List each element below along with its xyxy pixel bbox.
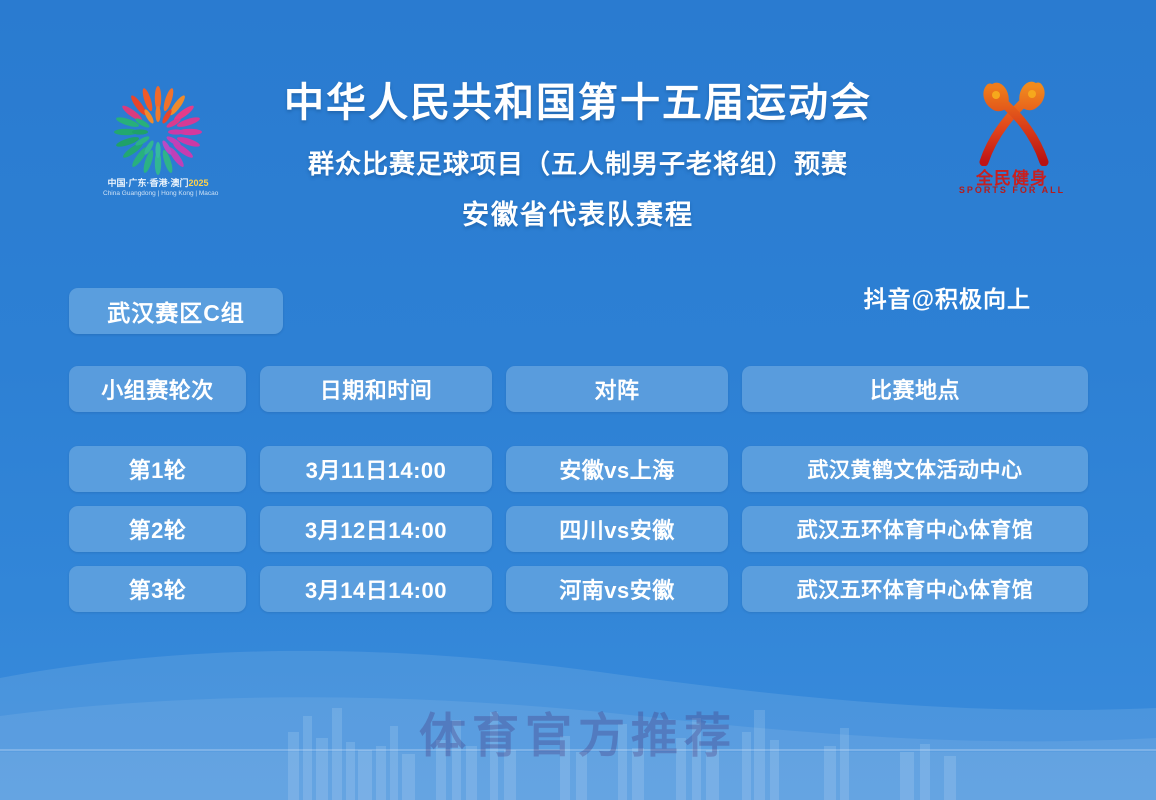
cell-round-label: 第2轮 [129,513,187,545]
games-emblem-logo: 中国·广东·香港·澳门2025 China Guangdong | Hong K… [103,86,213,204]
cell-datetime-label: 3月11日14:00 [306,453,447,485]
cell-round: 第3轮 [69,566,246,612]
cell-venue: 武汉黄鹤文体活动中心 [742,446,1088,492]
emblem-caption-year: 2025 [188,178,208,188]
cell-datetime-label: 3月14日14:00 [305,573,447,605]
page-subtitle: 群众比赛足球项目（五人制男子老将组）预赛 [222,142,934,186]
sports-for-all-en: SPORTS FOR ALL [956,185,1068,195]
cell-matchup-label: 河南vs安徽 [559,573,674,605]
schedule-table: 小组赛轮次 日期和时间 对阵 比赛地点 第1轮 3月11日14:00 安徽vs上… [69,366,1088,612]
table-header-row: 小组赛轮次 日期和时间 对阵 比赛地点 [69,366,1088,412]
cell-matchup-label: 安徽vs上海 [559,453,674,485]
running-figures-icon [962,80,1062,166]
cell-venue-label: 武汉黄鹤文体活动中心 [808,454,1023,484]
watermark-text: 体育官方推荐 [0,697,1156,766]
column-header-matchup: 对阵 [506,366,728,412]
group-badge: 武汉赛区C组 [69,288,283,334]
column-header-datetime-label: 日期和时间 [320,373,433,405]
douyin-credit: 抖音@积极向上 [864,280,1031,314]
column-header-venue-label: 比赛地点 [870,373,960,405]
title-block: 中华人民共和国第十五届运动会 群众比赛足球项目（五人制男子老将组）预赛 安徽省代… [222,78,934,236]
wave-decoration [0,620,1156,800]
cell-round: 第2轮 [69,506,246,552]
table-row: 第3轮 3月14日14:00 河南vs安徽 武汉五环体育中心体育馆 [69,566,1088,612]
cell-round-label: 第3轮 [129,573,187,605]
cell-datetime: 3月12日14:00 [260,506,492,552]
city-skyline-decoration [0,680,1156,800]
group-badge-label: 武汉赛区C组 [107,294,245,328]
cell-matchup: 安徽vs上海 [506,446,728,492]
cell-round-label: 第1轮 [129,453,187,485]
cell-venue-label: 武汉五环体育中心体育馆 [797,514,1034,544]
column-header-round: 小组赛轮次 [69,366,246,412]
column-header-venue: 比赛地点 [742,366,1088,412]
team-schedule-title: 安徽省代表队赛程 [222,194,934,236]
table-row: 第2轮 3月12日14:00 四川vs安徽 武汉五环体育中心体育馆 [69,506,1088,552]
cell-datetime: 3月11日14:00 [260,446,492,492]
cell-round: 第1轮 [69,446,246,492]
poster-header: 中国·广东·香港·澳门2025 China Guangdong | Hong K… [0,78,1156,228]
cell-venue: 武汉五环体育中心体育馆 [742,566,1088,612]
cell-datetime-label: 3月12日14:00 [305,513,447,545]
cell-matchup-label: 四川vs安徽 [559,513,674,545]
page-title: 中华人民共和国第十五届运动会 [222,78,934,128]
cell-datetime: 3月14日14:00 [260,566,492,612]
column-header-round-label: 小组赛轮次 [101,373,214,405]
emblem-caption-cn: 中国·广东·香港·澳门 [107,178,188,188]
column-header-matchup-label: 对阵 [594,373,639,405]
cell-matchup: 河南vs安徽 [506,566,728,612]
cell-matchup: 四川vs安徽 [506,506,728,552]
emblem-chinese-caption: 中国·广东·香港·澳门2025 [103,178,213,189]
poster-canvas: 中国·广东·香港·澳门2025 China Guangdong | Hong K… [0,0,1156,800]
column-header-datetime: 日期和时间 [260,366,492,412]
cell-venue-label: 武汉五环体育中心体育馆 [797,574,1034,604]
table-row: 第1轮 3月11日14:00 安徽vs上海 武汉黄鹤文体活动中心 [69,446,1088,492]
fireworks-burst-icon [103,86,213,178]
emblem-english-caption: China Guangdong | Hong Kong | Macao [103,189,213,198]
sports-for-all-logo: 全民健身 SPORTS FOR ALL [956,80,1068,208]
cell-venue: 武汉五环体育中心体育馆 [742,506,1088,552]
